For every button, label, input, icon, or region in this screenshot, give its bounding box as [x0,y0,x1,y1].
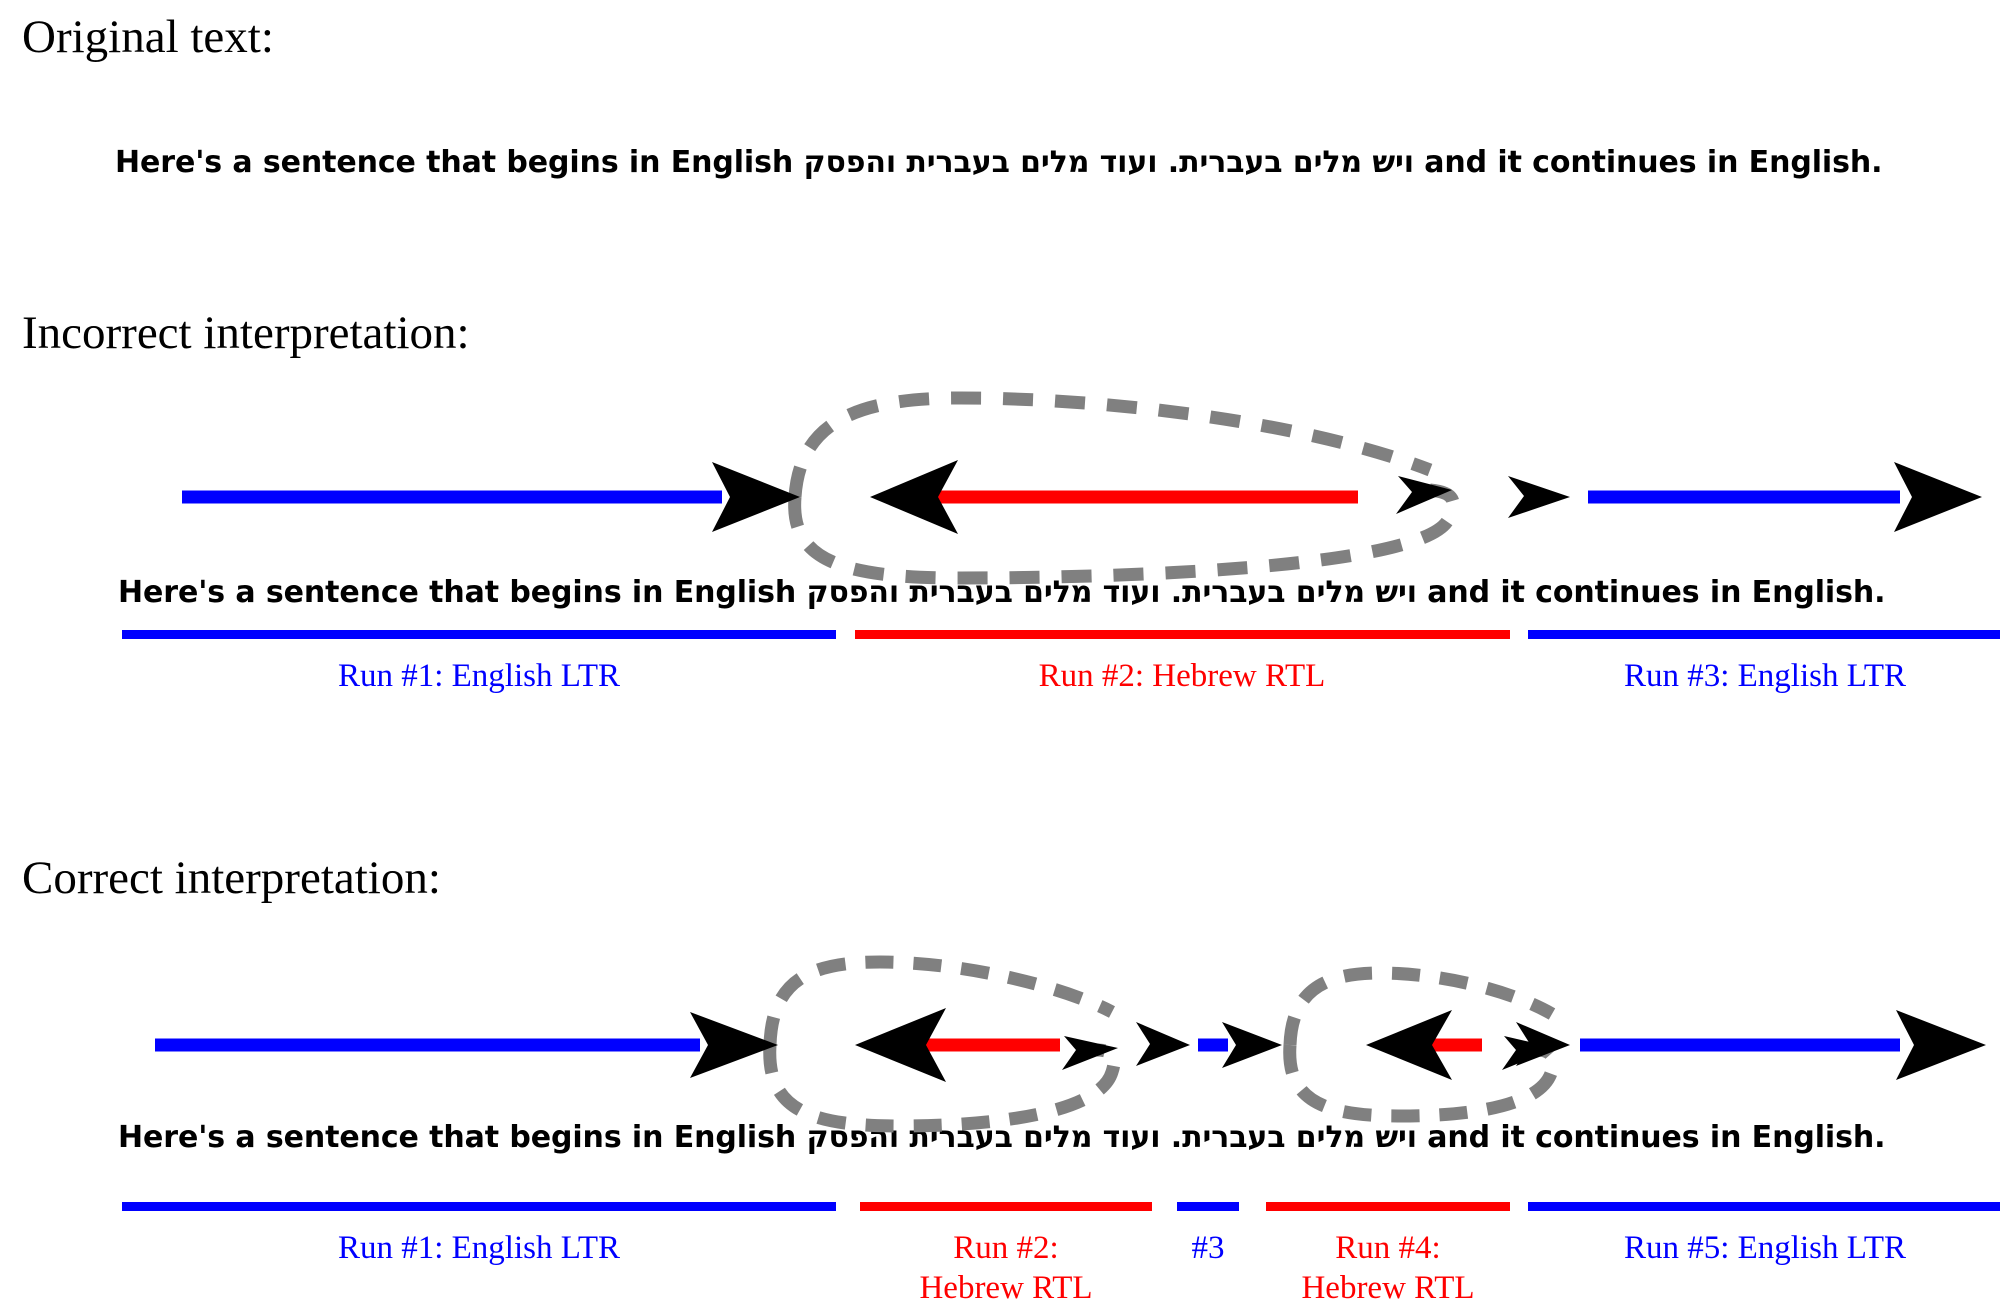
bidi-diagram-page: Original text: Here's a sentence that be… [0,0,2007,1314]
run2-rtl-arrowhead-correct [855,1008,946,1082]
correct-run-label-3: #3 [1158,1228,1258,1268]
incorrect-run-bar-1 [122,630,836,639]
incorrect-run-label-2: Run #2: Hebrew RTL [885,656,1479,696]
logical-loop-bottom-correct-1 [770,1045,1114,1126]
correct-run-label-2: Run #2: Hebrew RTL [856,1228,1156,1309]
correct-run-label-1: Run #1: English LTR [182,1228,776,1268]
logical-arrowhead-into-run2-correct [1062,1036,1118,1070]
run1-ltr-arrowhead-correct [690,1012,778,1078]
section-heading-correct: Correct interpretation: [22,855,441,902]
correct-arrow-group [155,962,1986,1126]
run5-ltr-arrowhead-correct [1896,1010,1986,1080]
incorrect-run-label-3: Run #3: English LTR [1468,656,2007,696]
original-text-english-start: Here's a sentence that begins in English [115,145,803,180]
logical-loop-bottom-correct-2 [1290,1045,1553,1116]
logical-loop-top-correct-1 [770,962,1112,1045]
correct-text-english-end: and it continues in English. [1417,1120,1885,1155]
logical-loop-top-correct-2 [1290,973,1552,1045]
run3-ltr-arrowhead-correct [1222,1022,1282,1068]
correct-run-bar-5 [1528,1202,2000,1211]
correct-text-hebrew: ויש מלים בעברית. ועוד מלים בעברית והפסק [806,1120,1416,1155]
correct-sample-text: Here's a sentence that begins in English… [118,1123,1885,1153]
correct-run-bar-3 [1177,1202,1239,1211]
incorrect-run-label-1: Run #1: English LTR [182,656,776,696]
logical-loop-bottom-incorrect [795,490,1454,578]
incorrect-text-english-end: and it continues in English. [1417,575,1885,610]
logical-arrowhead-into-run5-correct [1516,1022,1570,1066]
incorrect-text-english-start: Here's a sentence that begins in English [118,575,806,610]
run2-rtl-arrowhead-incorrect [870,460,958,534]
original-sample-text: Here's a sentence that begins in English… [115,148,1882,178]
logical-arrowhead-into-run3-incorrect [1508,476,1570,518]
original-text-english-end: and it continues in English. [1414,145,1882,180]
incorrect-sample-text: Here's a sentence that begins in English… [118,578,1885,608]
run1-ltr-arrowhead-incorrect [712,462,800,532]
logical-arrowhead-into-run2-incorrect [1396,476,1452,514]
incorrect-run-bar-3 [1528,630,2000,639]
run3-ltr-arrowhead-incorrect [1894,462,1982,532]
correct-run-label-5: Run #5: English LTR [1468,1228,2007,1268]
section-heading-incorrect: Incorrect interpretation: [22,310,470,357]
incorrect-arrow-group [182,398,1982,578]
original-text-hebrew: ויש מלים בעברית. ועוד מלים בעברית והפסק [803,145,1413,180]
incorrect-text-hebrew: ויש מלים בעברית. ועוד מלים בעברית והפסק [806,575,1416,610]
section-heading-original: Original text: [22,14,274,61]
correct-run-bar-4 [1266,1202,1510,1211]
incorrect-run-bar-2 [855,630,1510,639]
logical-arrowhead-into-run4-correct [1502,1036,1556,1070]
correct-text-english-start: Here's a sentence that begins in English [118,1120,806,1155]
logical-arrowhead-into-run3-correct [1136,1022,1190,1066]
logical-loop-top-incorrect [795,398,1430,497]
correct-run-bar-1 [122,1202,836,1211]
correct-run-bar-2 [860,1202,1152,1211]
run4-rtl-arrowhead-correct [1366,1010,1452,1080]
